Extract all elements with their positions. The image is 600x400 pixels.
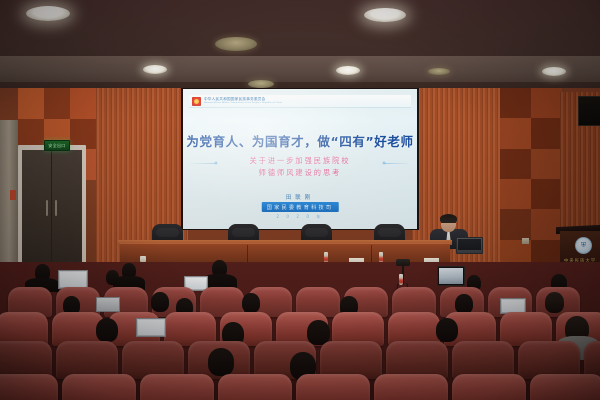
auditorium-seat	[140, 374, 214, 400]
presenter-laptop	[456, 237, 483, 254]
slide-date: 2 0 2 0 年	[183, 214, 417, 220]
preview-monitor	[437, 266, 465, 286]
audience-person	[436, 318, 458, 342]
presenter-hair	[440, 214, 457, 223]
audience-person	[455, 294, 473, 314]
ceiling-light	[336, 66, 360, 75]
door-handle[interactable]	[55, 200, 57, 216]
exit-door[interactable]	[22, 150, 82, 263]
wall-display-panel	[578, 96, 600, 126]
auditorium-seat	[374, 374, 448, 400]
ceiling-light-dim	[248, 80, 274, 88]
slide-subtitle-line-2: 师德师风建设的思考	[183, 167, 417, 179]
audience-person	[545, 292, 564, 313]
audience-person	[208, 348, 234, 376]
projection-screen: 中华人民共和国国家民族事务委员会 National Ethnic Affairs…	[183, 89, 417, 229]
ceiling-light	[143, 65, 167, 74]
ceiling-light-dim	[215, 37, 257, 51]
wall-plate	[10, 190, 16, 200]
exit-sign-label: 安全出口	[48, 144, 65, 148]
slide-header: 中华人民共和国国家民族事务委员会 National Ethnic Affairs…	[189, 95, 411, 108]
audience-person	[106, 270, 119, 285]
checker-wall-right	[500, 88, 562, 270]
auditorium-seat	[296, 374, 370, 400]
ceiling-light-dim	[428, 68, 450, 75]
ceiling-light	[364, 8, 406, 22]
wall-outlet	[522, 238, 529, 244]
slide-author: 田联刚	[183, 193, 417, 201]
exit-sign-icon: 安全出口	[44, 140, 70, 151]
audience-person	[242, 293, 260, 313]
auditorium-scene: 安全出口 中华人民共和国国家民族事务委员会 National Ethnic Af…	[0, 0, 600, 400]
slide-header-org-en: National Ethnic Affairs Commission of th…	[204, 102, 282, 104]
auditorium-seat	[452, 374, 526, 400]
audience-laptop	[136, 318, 166, 337]
door-handle[interactable]	[46, 200, 48, 216]
door-split-line	[51, 150, 52, 263]
national-emblem-icon	[192, 97, 201, 106]
slide-organization-banner: 国家民委教育科技司	[262, 202, 339, 212]
slide-subtitle-line-1: 关于进一步加强民族院校	[183, 155, 417, 167]
slide-subtitle: 关于进一步加强民族院校 师德师风建设的思考	[183, 155, 417, 179]
audience-laptop	[96, 297, 120, 312]
auditorium-seat	[0, 374, 58, 400]
audience-person	[151, 292, 169, 312]
audience-person	[96, 318, 118, 342]
auditorium-seat	[218, 374, 292, 400]
water-bottle	[399, 274, 403, 285]
ceiling-light	[26, 6, 70, 21]
university-crest-icon: ⛨	[575, 237, 592, 254]
auditorium-seat	[62, 374, 136, 400]
ceiling-light	[542, 67, 566, 76]
slide-title: 为党育人、为国育才，做“四有”好老师	[183, 131, 417, 150]
auditorium-seat	[530, 374, 600, 400]
